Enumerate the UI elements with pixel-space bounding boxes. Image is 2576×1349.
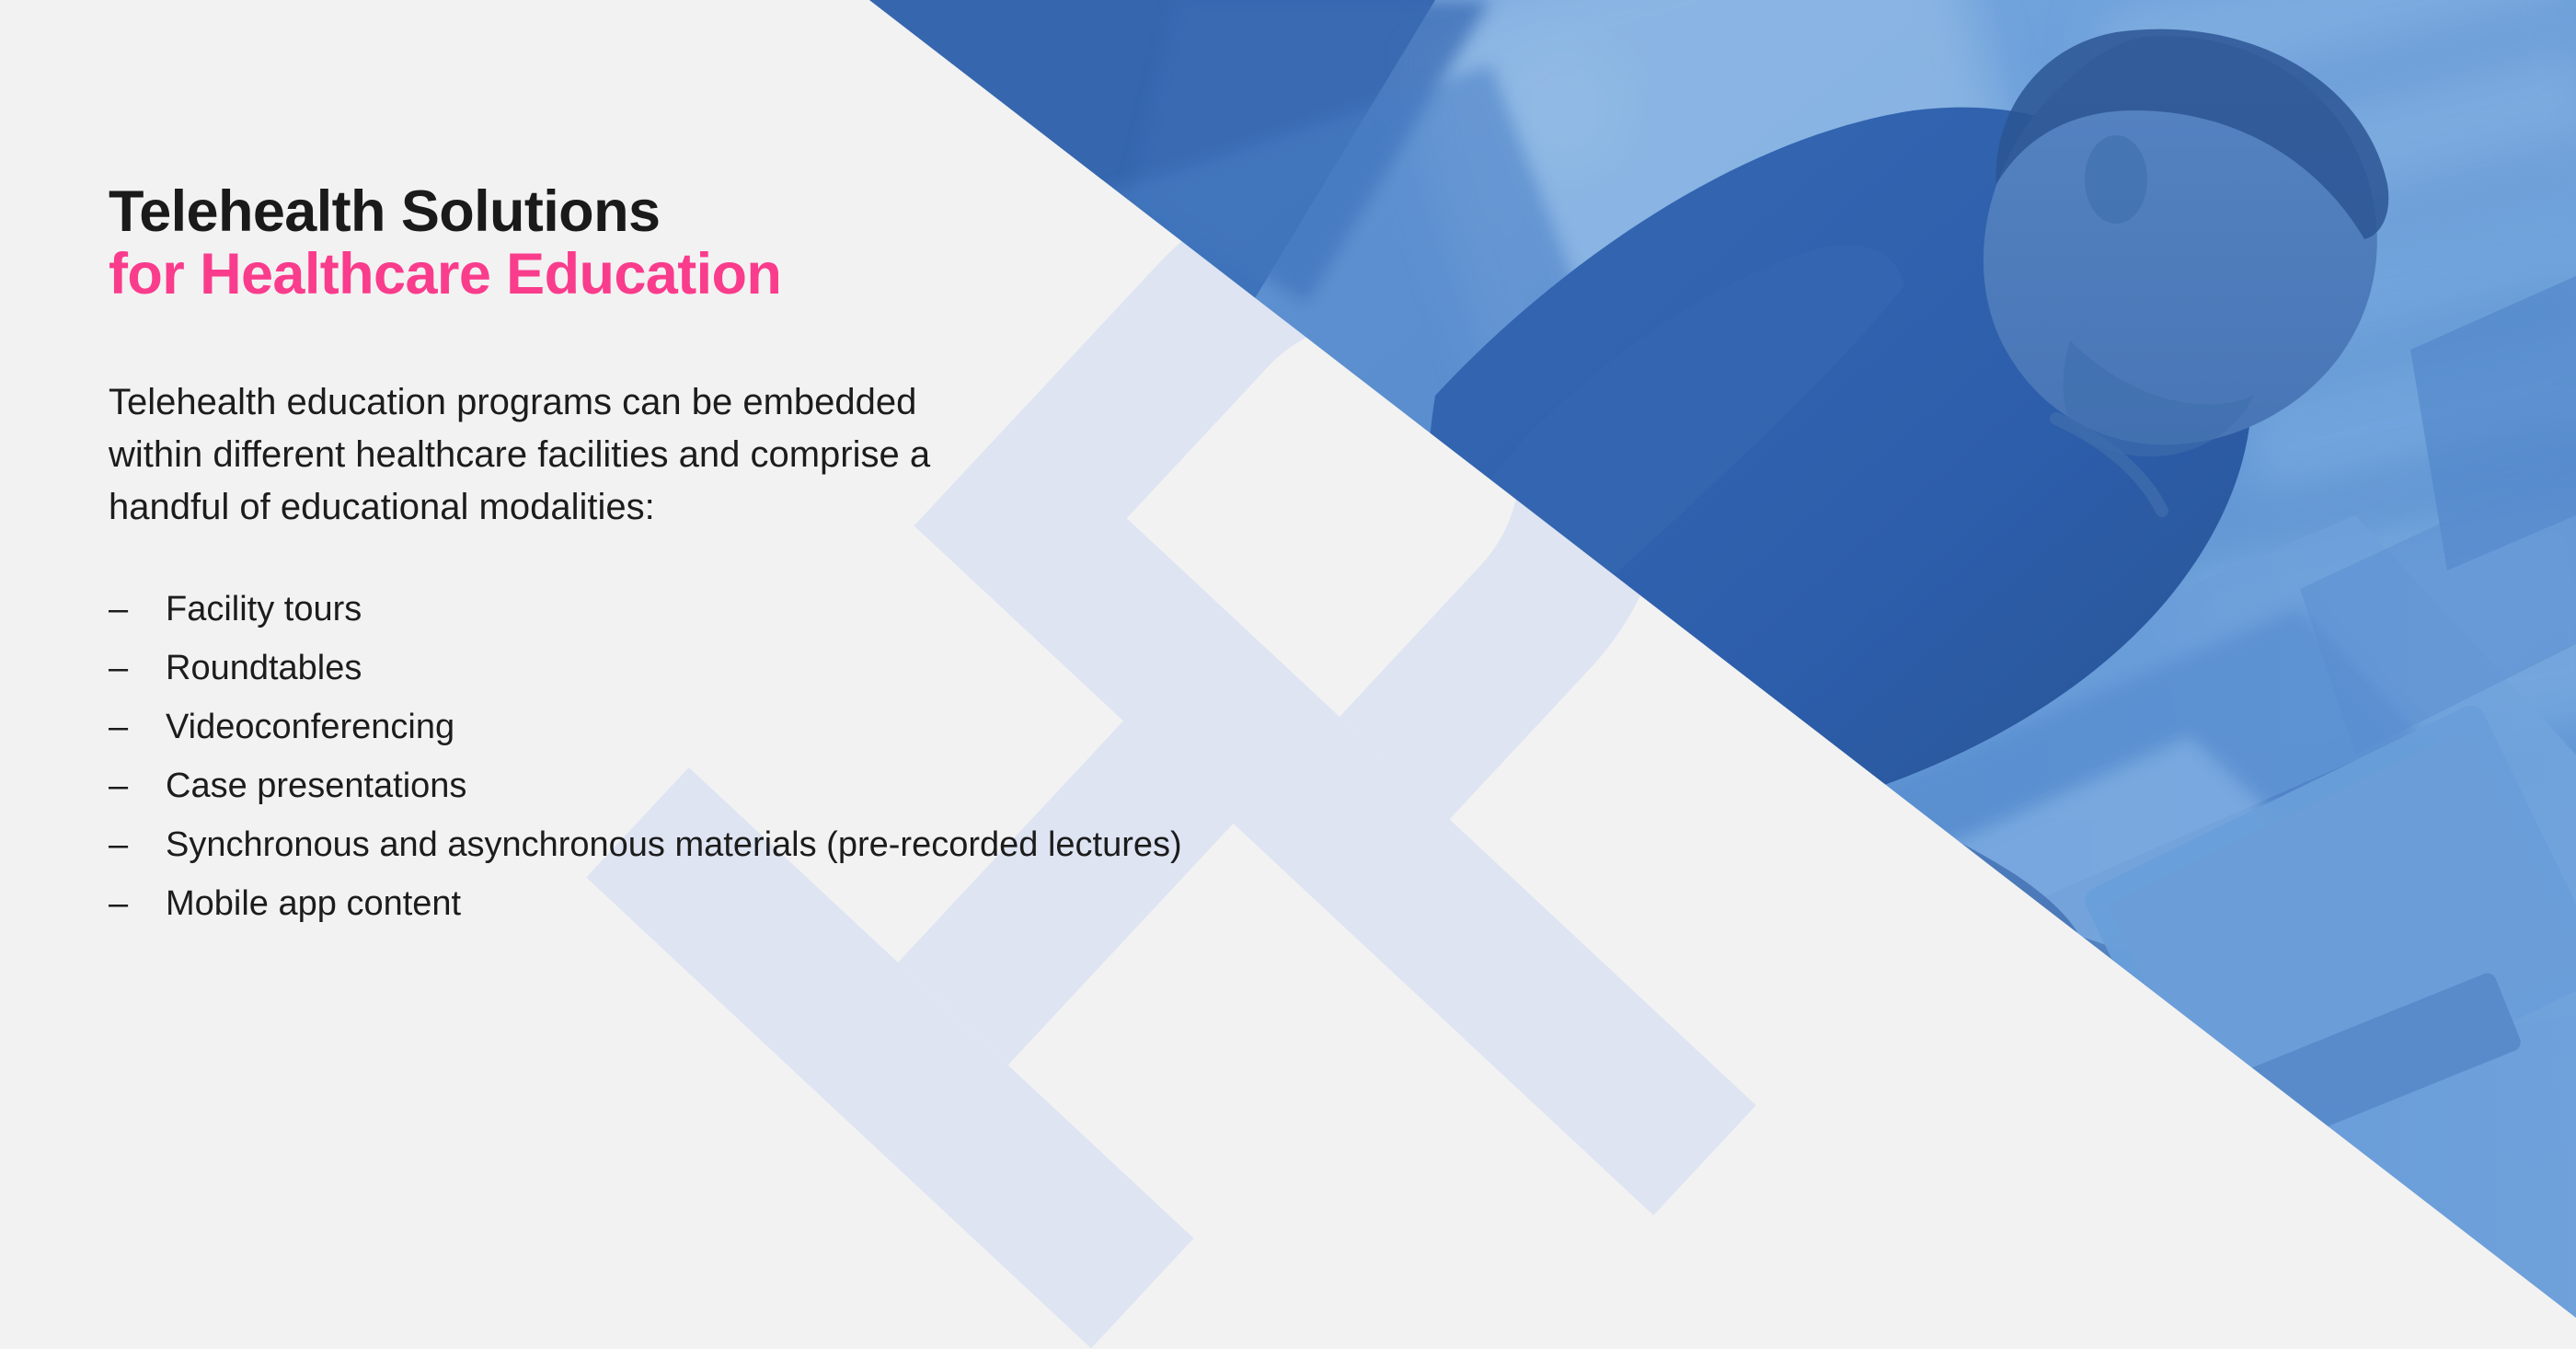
page-title: Telehealth Solutions for Healthcare Educ… xyxy=(109,180,1728,306)
intro-paragraph: Telehealth education programs can be emb… xyxy=(109,376,1332,533)
title-line-primary: Telehealth Solutions xyxy=(109,180,1728,243)
dash-marker-icon: – xyxy=(109,768,166,803)
list-item-label: Mobile app content xyxy=(166,886,461,921)
list-item-label: Videoconferencing xyxy=(166,709,454,744)
list-item-label: Facility tours xyxy=(166,592,362,627)
slide-canvas: Telehealth Solutions for Healthcare Educ… xyxy=(0,0,2576,1349)
list-item: – Synchronous and asynchronous materials… xyxy=(109,827,1728,862)
list-item: – Roundtables xyxy=(109,651,1728,686)
paragraph-line: Telehealth education programs can be emb… xyxy=(109,376,1332,429)
paragraph-line: within different healthcare facilities a… xyxy=(109,429,1332,481)
modality-list: – Facility tours – Roundtables – Videoco… xyxy=(109,592,1728,921)
list-item: – Mobile app content xyxy=(109,886,1728,921)
list-item: – Videoconferencing xyxy=(109,709,1728,744)
list-item: – Facility tours xyxy=(109,592,1728,627)
list-item-label: Synchronous and asynchronous materials (… xyxy=(166,827,1182,862)
dash-marker-icon: – xyxy=(109,592,166,627)
dash-marker-icon: – xyxy=(109,886,166,921)
dash-marker-icon: – xyxy=(109,651,166,686)
paragraph-line: handful of educational modalities: xyxy=(109,481,1332,534)
list-item: – Case presentations xyxy=(109,768,1728,803)
list-item-label: Case presentations xyxy=(166,768,466,803)
title-line-accent: for Healthcare Education xyxy=(109,243,1728,306)
list-item-label: Roundtables xyxy=(166,651,362,686)
dash-marker-icon: – xyxy=(109,827,166,862)
text-content-column: Telehealth Solutions for Healthcare Educ… xyxy=(109,180,1728,921)
dash-marker-icon: – xyxy=(109,709,166,744)
